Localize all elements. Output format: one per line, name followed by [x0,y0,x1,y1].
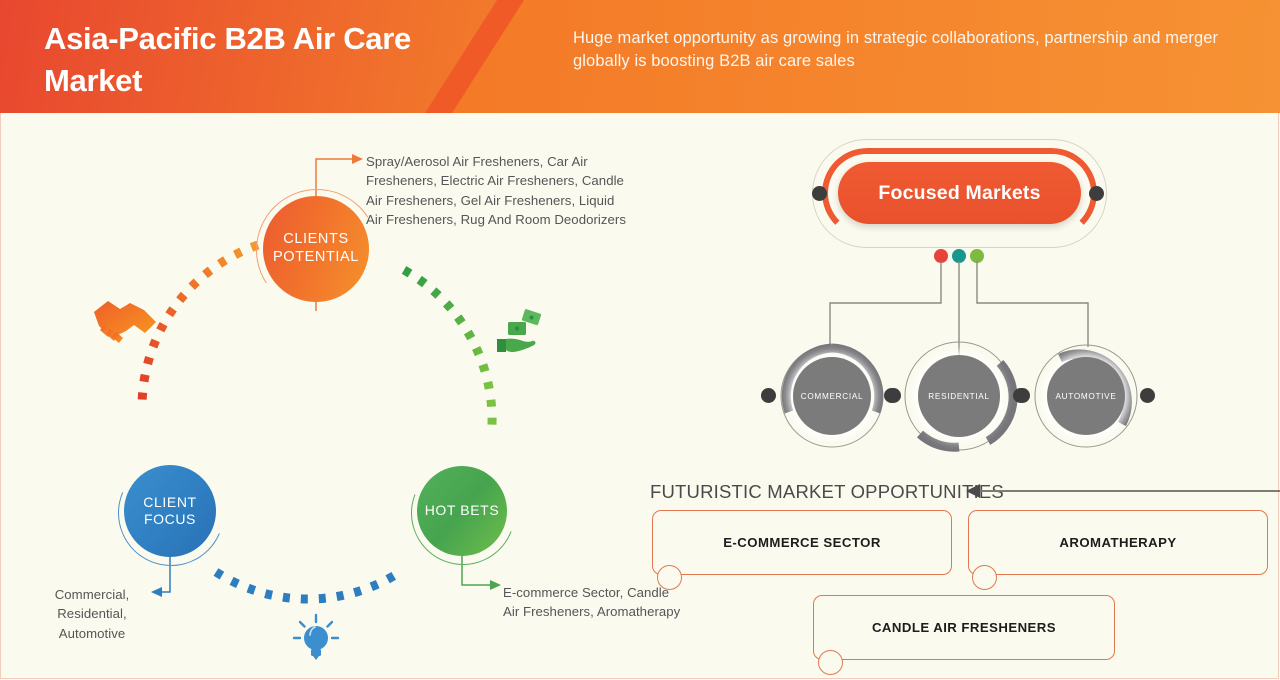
futuristic-node-ecommerce [657,565,682,590]
focused-markets-badge[interactable]: Focused Markets [838,162,1081,224]
page-subtitle: Huge market opportunity as growing in st… [573,27,1253,74]
futuristic-item-label-aromatherapy: AROMATHERAPY [1059,535,1176,550]
arrow-hotbets-note [490,580,501,590]
header-banner: Asia-Pacific B2B Air Care Market Huge ma… [0,0,1280,113]
node-client-focus[interactable]: CLIENT FOCUS [124,465,216,557]
note-hot-bets: E-commerce Sector, Candle Air Fresheners… [503,583,688,622]
focused-markets-dot-left [812,186,827,201]
market-circle-residential[interactable]: RESIDENTIAL [918,355,1000,437]
futuristic-node-candle [818,650,843,675]
node-clients-potential[interactable]: CLIENTS POTENTIAL [263,196,369,302]
lightbulb-icon [292,613,340,665]
arrow-focus-note [151,587,162,597]
futuristic-title: FUTURISTIC MARKET OPPORTUNITIES [650,481,1004,503]
node-label-client-focus: CLIENT FOCUS [124,494,216,528]
futuristic-node-aromatherapy [972,565,997,590]
node-label-hot-bets: HOT BETS [425,502,500,519]
market-label-commercial: COMMERCIAL [801,392,864,401]
arc-green-dotted [404,270,492,425]
market-circle-automotive[interactable]: AUTOMOTIVE [1047,357,1125,435]
futuristic-item-aromatherapy[interactable]: AROMATHERAPY [968,510,1268,575]
automotive-dot-left [1015,388,1030,403]
note-client-focus: Commercial, Residential, Automotive [32,585,152,643]
arc-blue-dotted [216,572,400,599]
futuristic-item-ecommerce[interactable]: E-COMMERCE SECTOR [652,510,952,575]
infographic-page: Asia-Pacific B2B Air Care Market Huge ma… [0,0,1280,680]
focused-markets-title: Focused Markets [878,182,1040,205]
arrow-clients-note [352,154,363,164]
futuristic-item-label-candle: CANDLE AIR FRESHENERS [872,620,1056,635]
node-hot-bets[interactable]: HOT BETS [417,466,507,556]
market-label-residential: RESIDENTIAL [928,392,989,401]
node-label-clients-potential: CLIENTS POTENTIAL [263,231,369,266]
commercial-dot-left [761,388,776,403]
note-clients-potential: Spray/Aerosol Air Fresheners, Car Air Fr… [366,152,631,229]
focused-markets-dot-right [1089,186,1104,201]
futuristic-item-label-ecommerce: E-COMMERCE SECTOR [723,535,881,550]
futuristic-arrow [960,480,1280,502]
money-in-hand-icon [495,308,549,358]
automotive-dot-right [1140,388,1155,403]
futuristic-item-candle[interactable]: CANDLE AIR FRESHENERS [813,595,1115,660]
handshake-icon [90,292,162,348]
page-title: Asia-Pacific B2B Air Care Market [44,18,474,101]
market-label-automotive: AUTOMOTIVE [1056,392,1117,401]
residential-dot-left [886,388,901,403]
market-circle-commercial[interactable]: COMMERCIAL [793,357,871,435]
